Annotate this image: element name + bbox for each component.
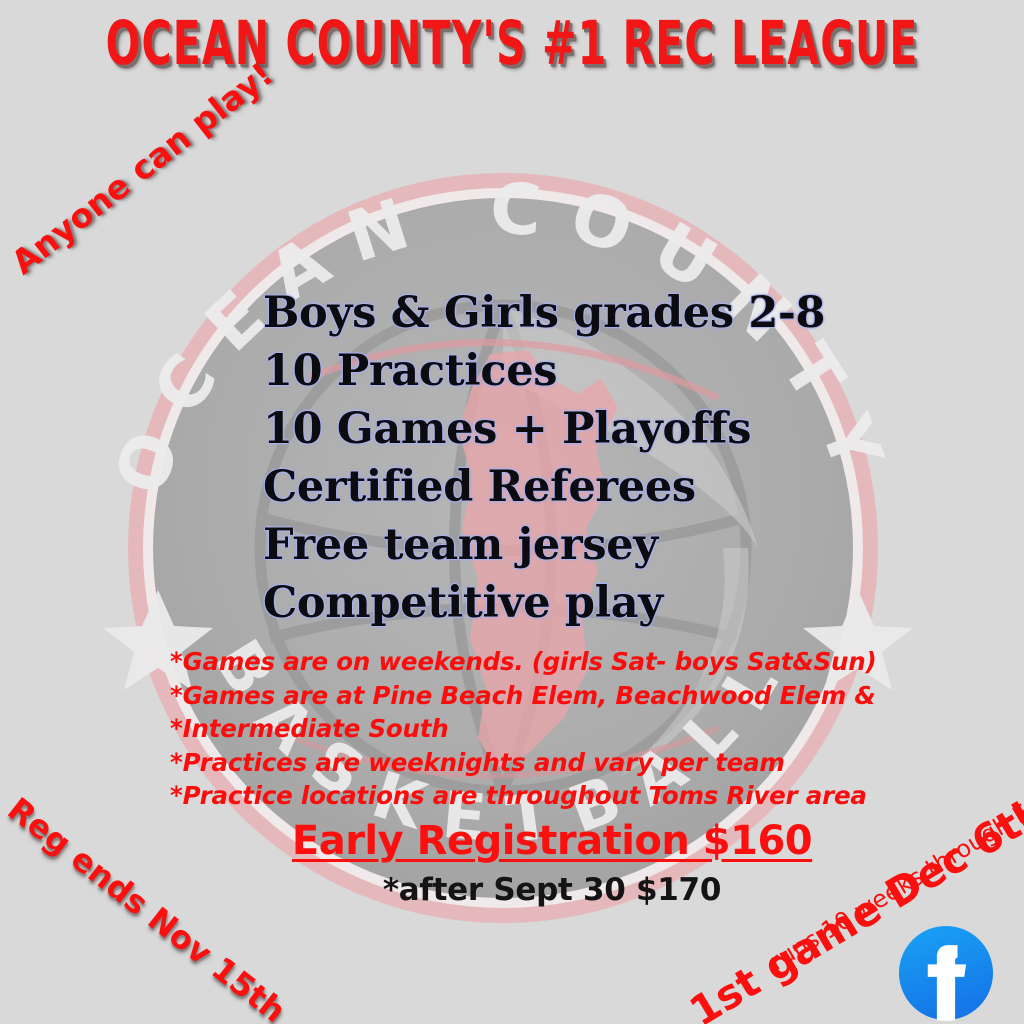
note-item: *Games are on weekends. (girls Sat- boys… [170, 645, 877, 679]
flyer-canvas: OCEAN COUNTY BASKETBALL OCEAN COUNTY'S #… [0, 0, 1024, 1024]
feature-item: 10 Practices [263, 342, 825, 400]
facebook-icon[interactable] [898, 925, 994, 1021]
notes-list: *Games are on weekends. (girls Sat- boys… [170, 645, 877, 813]
feature-item: Certified Referees [263, 458, 825, 516]
feature-item: Competitive play [263, 574, 825, 632]
title-text: OCEAN COUNTY'S #1 REC LEAGUE [106, 8, 919, 79]
flyer-title: OCEAN COUNTY'S #1 REC LEAGUE [0, 8, 1024, 65]
note-item: *Practices are weeknights and vary per t… [170, 746, 877, 780]
note-item: *Practice locations are throughout Toms … [170, 779, 877, 813]
note-item: *Games are at Pine Beach Elem, Beachwood… [170, 679, 877, 713]
callout-anyone-can-play: Anyone can play! [4, 54, 280, 282]
early-registration-price: Early Registration $160 [40, 818, 1024, 864]
note-item: *Intermediate South [170, 712, 877, 746]
feature-item: Free team jersey [263, 516, 825, 574]
feature-item: Boys & Girls grades 2-8 [263, 284, 825, 342]
feature-item: 10 Games + Playoffs [263, 400, 825, 458]
feature-list: Boys & Girls grades 2-8 10 Practices 10 … [263, 284, 825, 632]
